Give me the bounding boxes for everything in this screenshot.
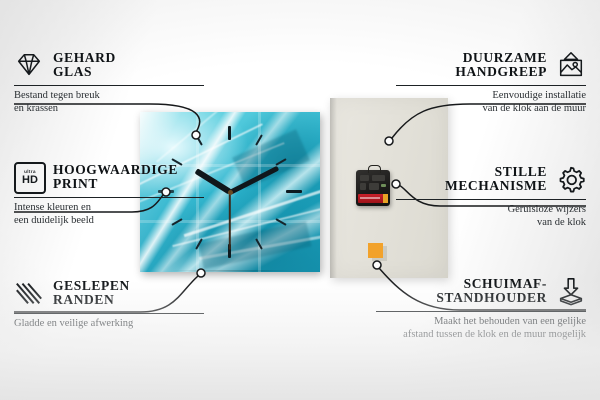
feature-description: Eenvoudige installatie van de klok aan d… [396,90,586,115]
feature-divider [14,197,204,198]
feature-title: STILLE MECHANISME [445,165,547,194]
feature-divider [14,313,204,314]
feature-header: STILLE MECHANISME [396,164,586,194]
feature-description: Geruisloze wijzers van de klok [396,204,586,229]
diamond-icon [14,50,44,80]
feature-header: DUURZAME HANDGREEP [396,50,586,80]
feature-header: GEHARD GLAS [14,50,204,80]
feature-header: ultra HD HOOGWAARDIGE PRINT [14,162,204,192]
clock-centre-cap [228,190,233,195]
feature-description: Intense kleuren en een duidelijk beeld [14,202,204,227]
ultra-hd-icon: ultra HD [14,162,44,192]
feature-header: GESLEPEN RANDEN [14,278,204,308]
feature-description: Gladde en veilige afwerking [14,318,204,331]
feature-divider [396,199,586,200]
feature-header: SCHUIMAF- STANDHOUDER [376,276,586,306]
feature-title: GESLEPEN RANDEN [53,279,130,308]
feature-duurzame-handgreep: DUURZAME HANDGREEP Eenvoudige installati… [396,50,586,115]
clock-mechanism [356,170,390,206]
press-down-pad-icon [556,276,586,306]
panel-edge [330,98,337,278]
mechanism-hanger-icon [368,165,381,173]
feature-description: Bestand tegen breuk en krassen [14,90,204,115]
feature-title: SCHUIMAF- STANDHOUDER [436,277,547,306]
feature-gehard-glas: GEHARD GLAS Bestand tegen breuk en krass… [14,50,204,115]
product-infographic: GEHARD GLAS Bestand tegen breuk en krass… [0,0,600,400]
foam-spacer-pad [368,243,383,258]
clock-second-hand [229,192,231,250]
feature-schuimafstandhouder: SCHUIMAF- STANDHOUDER Maakt het behouden… [376,276,586,341]
feature-title: GEHARD GLAS [53,51,116,80]
hanging-picture-icon [556,50,586,80]
gear-icon [556,164,586,194]
mechanism-battery [358,194,388,203]
feature-stille-mechanisme: STILLE MECHANISME Geruisloze wijzers van… [396,164,586,229]
bevelled-edge-icon [14,278,44,308]
feature-description: Maakt het behouden van een gelijke afsta… [376,316,586,341]
feature-divider [396,85,586,86]
feature-title: DUURZAME HANDGREEP [455,51,547,80]
feature-title: HOOGWAARDIGE PRINT [53,163,178,192]
feature-geslepen-randen: GESLEPEN RANDEN Gladde en veilige afwerk… [14,278,204,331]
feature-divider [14,85,204,86]
feature-divider [376,311,586,312]
feature-hoogwaardige-print: ultra HD HOOGWAARDIGE PRINT Intense kleu… [14,162,204,227]
